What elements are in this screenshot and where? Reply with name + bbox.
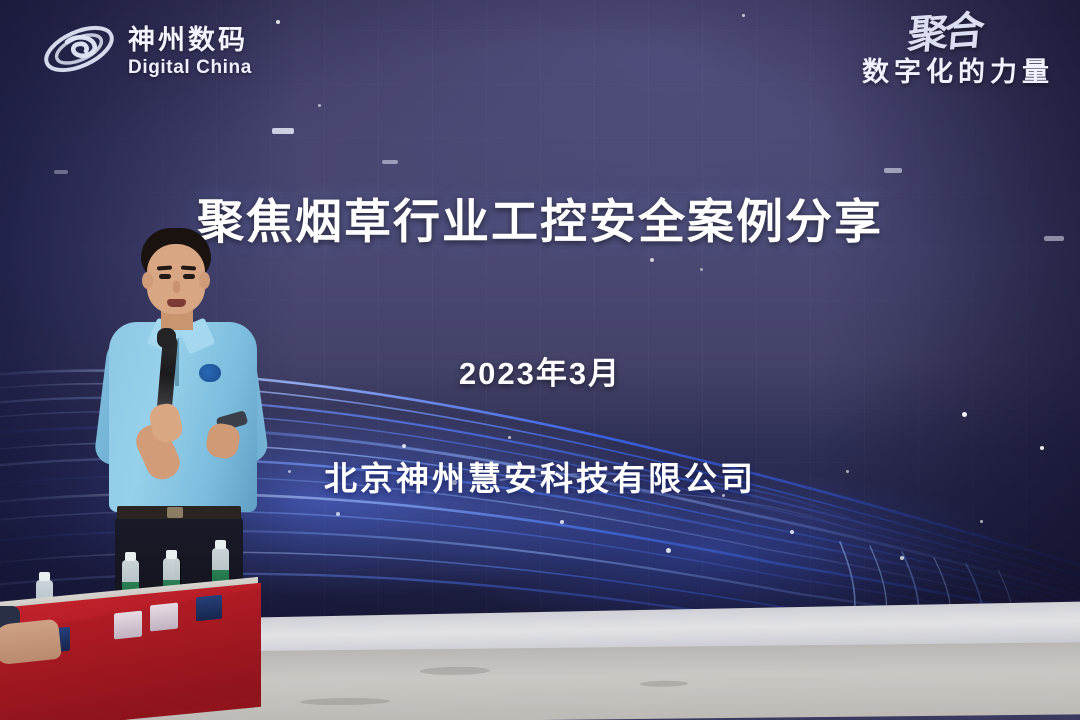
brand-name-cn: 神州数码 xyxy=(128,27,252,54)
brand-name-en: Digital China xyxy=(128,58,252,77)
speaker-figure xyxy=(95,228,270,618)
brand-logo: 神州数码 Digital China xyxy=(40,18,252,85)
chest-emblem-icon xyxy=(199,364,221,382)
presentation-photo: 神州数码 Digital China 聚合 数字化的力量 聚焦烟草行业工控安全案… xyxy=(0,0,1080,720)
campaign-mark: 聚合 数字化的力量 xyxy=(862,16,1054,89)
campaign-calligraphy: 聚合 xyxy=(860,12,982,58)
digital-china-spiral-icon xyxy=(40,18,118,85)
